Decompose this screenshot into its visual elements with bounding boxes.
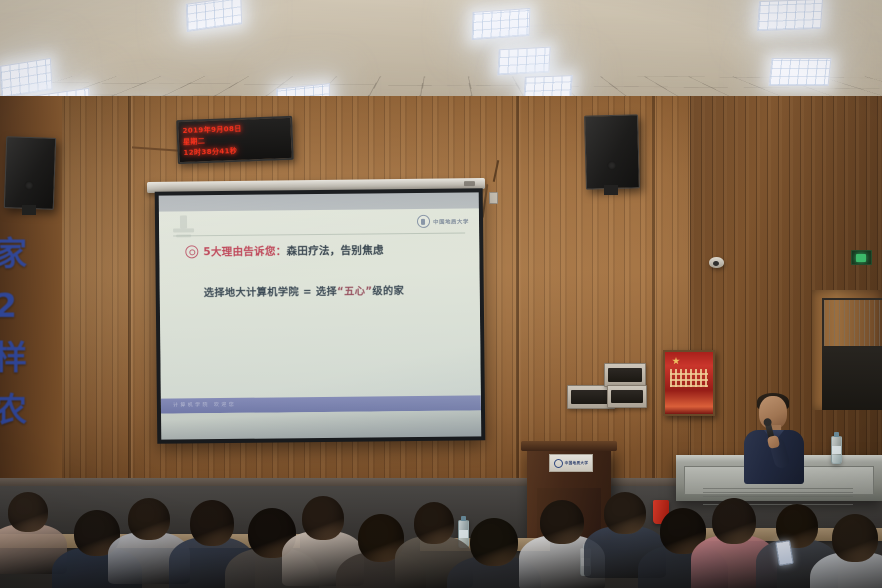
projection-surface: 中国地质大学 5大理由告诉您：森田疗法，告别焦虑 选择地大计算机学院 = 选择“… bbox=[159, 192, 482, 439]
slide-university-logo: 中国地质大学 bbox=[417, 214, 469, 228]
slide-heading-number: 5 bbox=[203, 246, 211, 258]
slide-body-right: 级的家 bbox=[372, 286, 404, 297]
audience-head bbox=[832, 514, 878, 562]
poster-text-rows bbox=[670, 369, 708, 387]
wall-speaker-left bbox=[4, 136, 56, 210]
audience-head bbox=[302, 496, 344, 540]
ceiling-light-panel bbox=[472, 8, 531, 40]
slide-body-highlight: “五心” bbox=[337, 286, 372, 297]
wall-character: 农 bbox=[0, 384, 40, 436]
slide-heading-text: 5大理由告诉您：森田疗法，告别焦虑 bbox=[203, 242, 384, 259]
university-crest-icon bbox=[417, 215, 430, 228]
seated-audience bbox=[0, 470, 882, 588]
slide-heading: 5大理由告诉您：森田疗法，告别焦虑 bbox=[185, 242, 384, 259]
audience-head bbox=[414, 502, 454, 544]
av-wall-panel-2 bbox=[604, 363, 646, 387]
ceiling-light-panel bbox=[497, 47, 550, 76]
ceiling-light-panel bbox=[757, 0, 823, 31]
led-line-1: 2019年9月08日 bbox=[182, 125, 241, 135]
av-wall-panel-3 bbox=[607, 385, 647, 408]
audience-head bbox=[128, 498, 170, 540]
slide-divider bbox=[173, 232, 465, 236]
right-doorway bbox=[812, 290, 882, 410]
wall-outlet bbox=[489, 192, 498, 204]
water-bottle-table bbox=[831, 436, 842, 464]
podium-top bbox=[521, 441, 617, 451]
wall-character: 样 bbox=[0, 332, 40, 384]
ceiling-security-camera bbox=[709, 257, 724, 268]
led-line-3: 12时38分41秒 bbox=[183, 147, 237, 157]
door-glass-panel bbox=[822, 298, 882, 348]
wall-character: 2 bbox=[0, 280, 40, 332]
audience-head bbox=[470, 518, 518, 566]
slide-body-text: 选择地大计算机学院 = 选择“五心”级的家 bbox=[204, 282, 405, 299]
ceiling-light-panel bbox=[769, 58, 832, 86]
podium-plaque-text: 中国地质大学 bbox=[565, 461, 589, 466]
slide-watermark bbox=[173, 215, 195, 241]
projection-screen: 中国地质大学 5大理由告诉您：森田疗法，告别焦虑 选择地大计算机学院 = 选择“… bbox=[155, 188, 486, 443]
slide-logo-text: 中国地质大学 bbox=[433, 217, 469, 225]
speaker-mount-left bbox=[22, 205, 36, 215]
audience-head bbox=[540, 500, 584, 544]
emergency-exit-sign bbox=[851, 250, 872, 265]
star-icon bbox=[672, 357, 680, 365]
audience-head bbox=[604, 492, 646, 534]
door-lower-panel bbox=[822, 346, 882, 410]
slide-footer-text: 计算机学院 欢迎您 bbox=[173, 401, 236, 409]
slide-footer-bar: 计算机学院 欢迎您 bbox=[161, 395, 481, 413]
lecture-hall-photo: 家2样农 2019年9月08日 星期二 12时38分41秒 bbox=[0, 0, 882, 588]
wall-character: 家 bbox=[0, 228, 40, 280]
wall-vertical-characters: 家2样农 bbox=[0, 228, 40, 436]
wall-speaker-right bbox=[584, 114, 640, 189]
audience-head bbox=[190, 500, 234, 546]
led-line-2: 星期二 bbox=[183, 137, 205, 146]
slide-body-left: 选择地大计算机学院 = 选择 bbox=[204, 287, 337, 299]
presentation-slide: 中国地质大学 5大理由告诉您：森田疗法，告别焦虑 选择地大计算机学院 = 选择“… bbox=[159, 208, 481, 413]
audience-head bbox=[8, 492, 48, 532]
podium-crest-icon bbox=[554, 459, 563, 468]
speaker-mount-right bbox=[604, 185, 618, 195]
slide-heading-rest: 森田疗法，告别焦虑 bbox=[286, 244, 383, 257]
audience-head bbox=[712, 498, 756, 544]
bullet-icon bbox=[185, 245, 198, 258]
red-wall-poster bbox=[663, 350, 715, 416]
led-sign: 2019年9月08日 星期二 12时38分41秒 bbox=[176, 116, 294, 164]
slide-heading-lead: 大理由告诉您： bbox=[211, 245, 287, 258]
